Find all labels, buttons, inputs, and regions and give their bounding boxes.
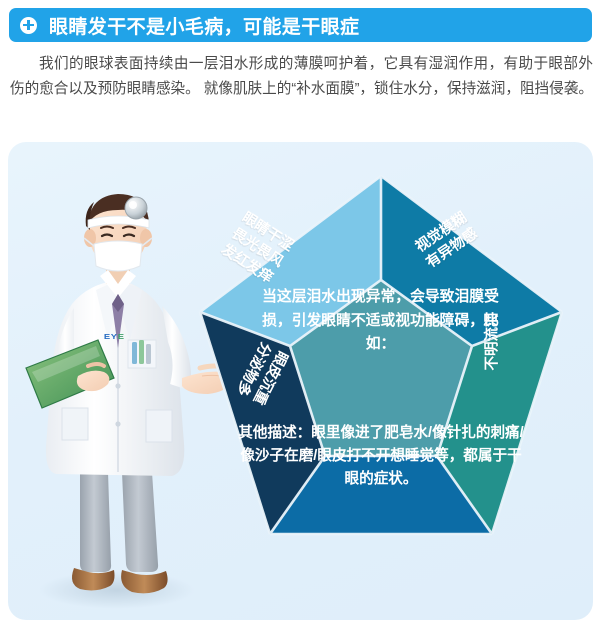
eye-badge-text-last: E	[118, 332, 125, 341]
illustration-card: EYE	[8, 142, 593, 620]
header-bar: 眼睛发干不是小毛病，可能是干眼症	[9, 8, 592, 42]
plus-circle-icon	[20, 17, 37, 34]
page-title: 眼睛发干不是小毛病，可能是干眼症	[49, 12, 359, 39]
eye-badge-text: EY	[104, 332, 118, 341]
eye-badge: EYE	[104, 332, 125, 341]
intro-paragraph: 我们的眼球表面持续由一层泪水形成的薄膜呵护着，它具有湿润作用，有助于眼部外伤的愈…	[10, 52, 593, 102]
pentagon-diagram: 眼睛干涩 畏光畏风 发红发痒 视觉模糊 有异物感 不明流泪 眼皮沉重 分泌物多 …	[192, 164, 570, 564]
center-lower-text: 其他描述：眼里像进了肥皂水/像针扎的刺痛/像沙子在磨/眼皮打不开想睡觉等，都属于…	[238, 422, 524, 491]
center-upper-text: 当这层泪水出现异常，会导致泪膜受损，引发眼睛不适或视功能障碍，比如：	[254, 286, 507, 357]
